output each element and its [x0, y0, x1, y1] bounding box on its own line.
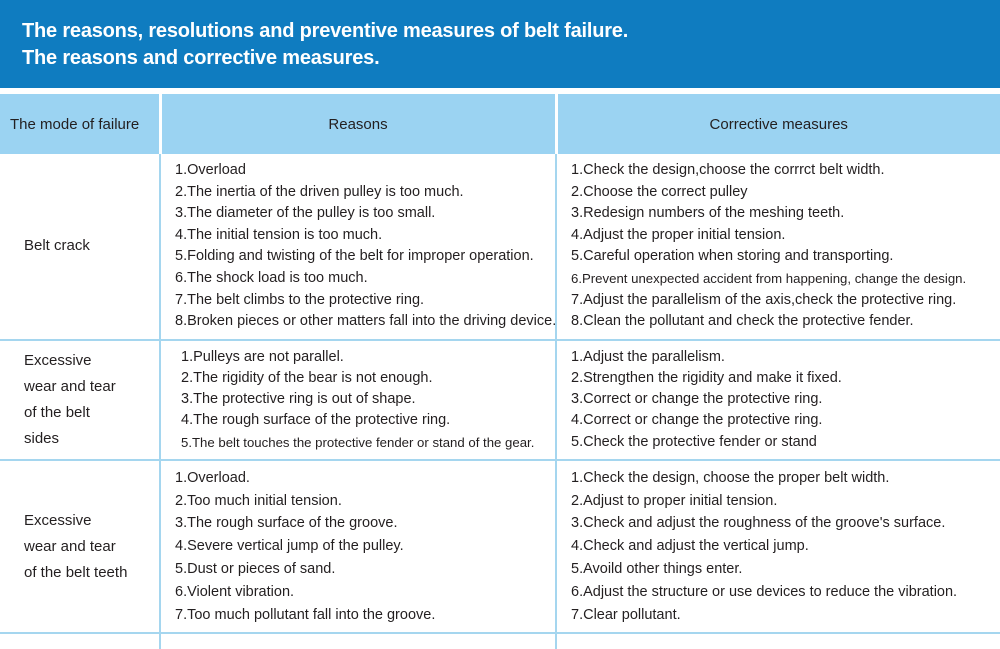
cell-failure-mode-partial [0, 633, 160, 649]
reasons-list: 1.Overload. 2.Too much initial tension. … [175, 467, 549, 627]
title-banner: The reasons, resolutions and preventive … [0, 0, 1000, 88]
list-item: 6.Violent vibration. [175, 581, 549, 604]
list-item: 5.Careful operation when storing and tra… [571, 246, 994, 268]
column-header-reasons: Reasons [160, 94, 556, 154]
list-item: 1.Adjust the parallelism. [571, 347, 994, 368]
cell-failure-mode: Excessive wear and tear of the belt side… [0, 340, 160, 460]
cell-corrective-measures-partial [556, 633, 1000, 649]
cell-reasons-partial [160, 633, 556, 649]
list-item: 4.The rough surface of the protective ri… [181, 410, 549, 431]
column-header-corrective: Corrective measures [556, 94, 1000, 154]
table-row: Excessive wear and tear of the belt teet… [0, 460, 1000, 634]
failure-table-container: The mode of failure Reasons Corrective m… [0, 94, 1000, 649]
failure-mode-line: of the belt teeth [24, 560, 151, 586]
banner-title-line-1: The reasons, resolutions and preventive … [22, 18, 1000, 45]
list-item: 5.Dust or pieces of sand. [175, 558, 549, 581]
failure-mode-line: wear and tear [24, 534, 151, 560]
list-item: 6.Prevent unexpected accident from happe… [571, 268, 994, 290]
list-item: 4.Correct or change the protective ring. [571, 410, 994, 431]
failure-mode-line: sides [24, 426, 151, 452]
list-item: 1.Overload. [175, 467, 549, 490]
reasons-list: 1.Overload 2.The inertia of the driven p… [175, 160, 549, 333]
list-item: 5.The belt touches the protective fender… [181, 432, 549, 453]
list-item: 3.The rough surface of the groove. [175, 512, 549, 535]
list-item: 3.Check and adjust the roughness of the … [571, 512, 994, 535]
failure-mode-line: of the belt [24, 400, 151, 426]
table-row-partial [0, 633, 1000, 649]
list-item: 7.Clear pollutant. [571, 604, 994, 627]
list-item: 4.Check and adjust the vertical jump. [571, 535, 994, 558]
list-item: 8.Broken pieces or other matters fall in… [175, 311, 549, 333]
list-item: 2.The inertia of the driven pulley is to… [175, 182, 549, 204]
list-item: 1.Pulleys are not parallel. [181, 347, 549, 368]
corrective-list: 1.Adjust the parallelism. 2.Strengthen t… [571, 347, 994, 453]
list-item: 1.Check the design,choose the corrrct be… [571, 160, 994, 182]
list-item: 2.Too much initial tension. [175, 490, 549, 513]
list-item: 1.Overload [175, 160, 549, 182]
list-item: 7.Adjust the parallelism of the axis,che… [571, 290, 994, 312]
list-item: 4.Severe vertical jump of the pulley. [175, 535, 549, 558]
list-item: 4.The initial tension is too much. [175, 225, 549, 247]
cell-reasons: 1.Pulleys are not parallel. 2.The rigidi… [160, 340, 556, 460]
reasons-list: 1.Pulleys are not parallel. 2.The rigidi… [181, 347, 549, 453]
table-row: Excessive wear and tear of the belt side… [0, 340, 1000, 460]
column-header-mode: The mode of failure [0, 94, 160, 154]
banner-title-line-2: The reasons and corrective measures. [22, 45, 1000, 72]
list-item: 8.Clean the pollutant and check the prot… [571, 311, 994, 333]
failure-mode-line: Excessive [24, 508, 151, 534]
cell-corrective-measures: 1.Check the design,choose the corrrct be… [556, 154, 1000, 340]
corrective-list: 1.Check the design, choose the proper be… [571, 467, 994, 627]
cell-corrective-measures: 1.Check the design, choose the proper be… [556, 460, 1000, 634]
table-header-row: The mode of failure Reasons Corrective m… [0, 94, 1000, 154]
list-item: 3.The diameter of the pulley is too smal… [175, 203, 549, 225]
corrective-list: 1.Check the design,choose the corrrct be… [571, 160, 994, 333]
list-item: 5.Folding and twisting of the belt for i… [175, 246, 549, 268]
cell-reasons: 1.Overload. 2.Too much initial tension. … [160, 460, 556, 634]
list-item: 6.The shock load is too much. [175, 268, 549, 290]
failure-mode-line: Excessive [24, 348, 151, 374]
cell-reasons: 1.Overload 2.The inertia of the driven p… [160, 154, 556, 340]
list-item: 5.Check the protective fender or stand [571, 432, 994, 453]
list-item: 7.Too much pollutant fall into the groov… [175, 604, 549, 627]
cell-failure-mode: Excessive wear and tear of the belt teet… [0, 460, 160, 634]
table-header: The mode of failure Reasons Corrective m… [0, 94, 1000, 154]
list-item: 1.Check the design, choose the proper be… [571, 467, 994, 490]
list-item: 4.Adjust the proper initial tension. [571, 225, 994, 247]
list-item: 2.Strengthen the rigidity and make it fi… [571, 368, 994, 389]
list-item: 3.Redesign numbers of the meshing teeth. [571, 203, 994, 225]
cell-corrective-measures: 1.Adjust the parallelism. 2.Strengthen t… [556, 340, 1000, 460]
failure-mode-line: wear and tear [24, 374, 151, 400]
list-item: 7.The belt climbs to the protective ring… [175, 290, 549, 312]
list-item: 2.The rigidity of the bear is not enough… [181, 368, 549, 389]
list-item: 2.Adjust to proper initial tension. [571, 490, 994, 513]
list-item: 3.Correct or change the protective ring. [571, 389, 994, 410]
table-body: Belt crack 1.Overload 2.The inertia of t… [0, 154, 1000, 649]
list-item: 3.The protective ring is out of shape. [181, 389, 549, 410]
list-item: 5.Avoild other things enter. [571, 558, 994, 581]
failure-table: The mode of failure Reasons Corrective m… [0, 94, 1000, 649]
list-item: 2.Choose the correct pulley [571, 182, 994, 204]
table-row: Belt crack 1.Overload 2.The inertia of t… [0, 154, 1000, 340]
list-item: 6.Adjust the structure or use devices to… [571, 581, 994, 604]
failure-mode-line: Belt crack [24, 233, 151, 259]
document-page: The reasons, resolutions and preventive … [0, 0, 1000, 630]
cell-failure-mode: Belt crack [0, 154, 160, 340]
